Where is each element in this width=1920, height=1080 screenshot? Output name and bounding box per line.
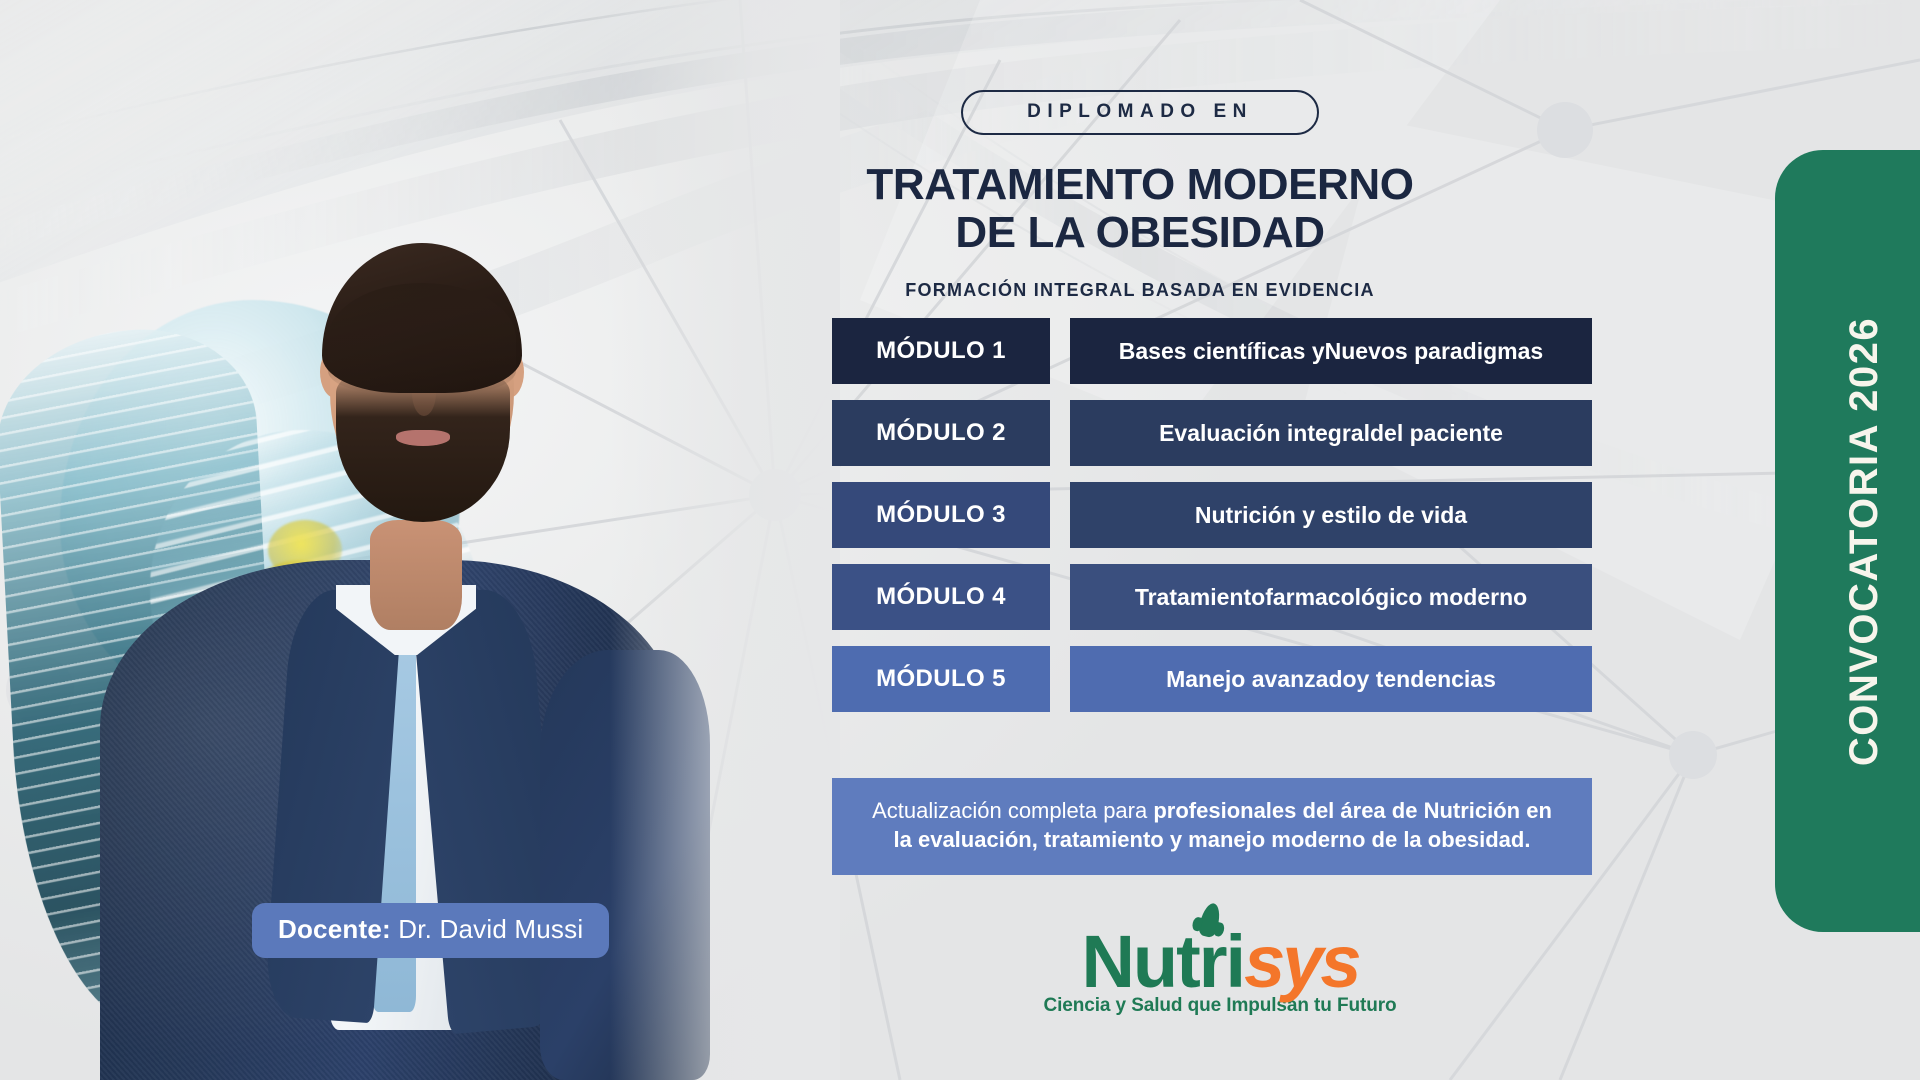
diplomado-pill: DIPLOMADO EN xyxy=(961,90,1319,135)
module-row: MÓDULO 4Tratamientofarmacológico moderno xyxy=(832,564,1592,630)
logo-text-sys: sys xyxy=(1244,920,1358,1003)
page-title: TRATAMIENTO MODERNO DE LA OBESIDAD xyxy=(830,161,1450,258)
module-title-line-2: y tendencias xyxy=(1357,665,1496,693)
title-line-1: TRATAMIENTO MODERNO xyxy=(830,161,1450,209)
logo-wordmark: Nutrisys xyxy=(1081,925,1358,999)
module-number: MÓDULO 4 xyxy=(832,564,1050,630)
photo-edge-fade xyxy=(610,0,840,1080)
module-title-line-1: Evaluación integral xyxy=(1159,419,1370,447)
header-block: DIPLOMADO EN TRATAMIENTO MODERNO DE LA O… xyxy=(830,90,1450,301)
poster-canvas: Docente: Dr. David Mussi DIPLOMADO EN TR… xyxy=(0,0,1920,1080)
module-number: MÓDULO 1 xyxy=(832,318,1050,384)
description-intro: Actualización completa para xyxy=(872,798,1153,823)
module-title: Bases científicas yNuevos paradigmas xyxy=(1070,318,1592,384)
module-number: MÓDULO 3 xyxy=(832,482,1050,548)
mouth xyxy=(396,430,450,446)
module-title-line-2: del paciente xyxy=(1370,419,1503,447)
module-title: Tratamientofarmacológico moderno xyxy=(1070,564,1592,630)
title-line-2: DE LA OBESIDAD xyxy=(830,209,1450,257)
docente-label: Docente: xyxy=(278,914,391,944)
module-title-line-1: Tratamiento xyxy=(1135,583,1265,611)
module-title: Evaluación integraldel paciente xyxy=(1070,400,1592,466)
subtitle: FORMACIÓN INTEGRAL BASADA EN EVIDENCIA xyxy=(830,280,1450,301)
module-number: MÓDULO 2 xyxy=(832,400,1050,466)
module-row: MÓDULO 2Evaluación integraldel paciente xyxy=(832,400,1592,466)
module-title: Manejo avanzadoy tendencias xyxy=(1070,646,1592,712)
module-row: MÓDULO 3Nutrición y estilo de vida xyxy=(832,482,1592,548)
docente-badge: Docente: Dr. David Mussi xyxy=(252,903,609,958)
docente-name: Dr. David Mussi xyxy=(391,914,583,944)
description-box: Actualización completa para profesionale… xyxy=(832,778,1592,875)
module-title-line-2: farmacológico moderno xyxy=(1265,583,1527,611)
module-title-line-1: Manejo avanzado xyxy=(1166,665,1356,693)
modules-list: MÓDULO 1Bases científicas yNuevos paradi… xyxy=(832,318,1592,728)
module-row: MÓDULO 1Bases científicas yNuevos paradi… xyxy=(832,318,1592,384)
module-title-line-1: Nutrición y estilo de vida xyxy=(1195,501,1467,529)
module-row: MÓDULO 5Manejo avanzadoy tendencias xyxy=(832,646,1592,712)
convocatoria-label: CONVOCATORIA 2026 xyxy=(1843,316,1888,765)
module-title-line-2: Nuevos paradigmas xyxy=(1325,337,1544,365)
nutrisys-logo: Nutrisys Ciencia y Salud que Impulsan tu… xyxy=(1010,925,1430,1017)
convocatoria-tab: CONVOCATORIA 2026 xyxy=(1775,150,1920,932)
module-title: Nutrición y estilo de vida xyxy=(1070,482,1592,548)
neck xyxy=(370,520,462,630)
hair xyxy=(322,243,522,393)
module-number: MÓDULO 5 xyxy=(832,646,1050,712)
module-title-line-1: Bases científicas y xyxy=(1119,337,1325,365)
